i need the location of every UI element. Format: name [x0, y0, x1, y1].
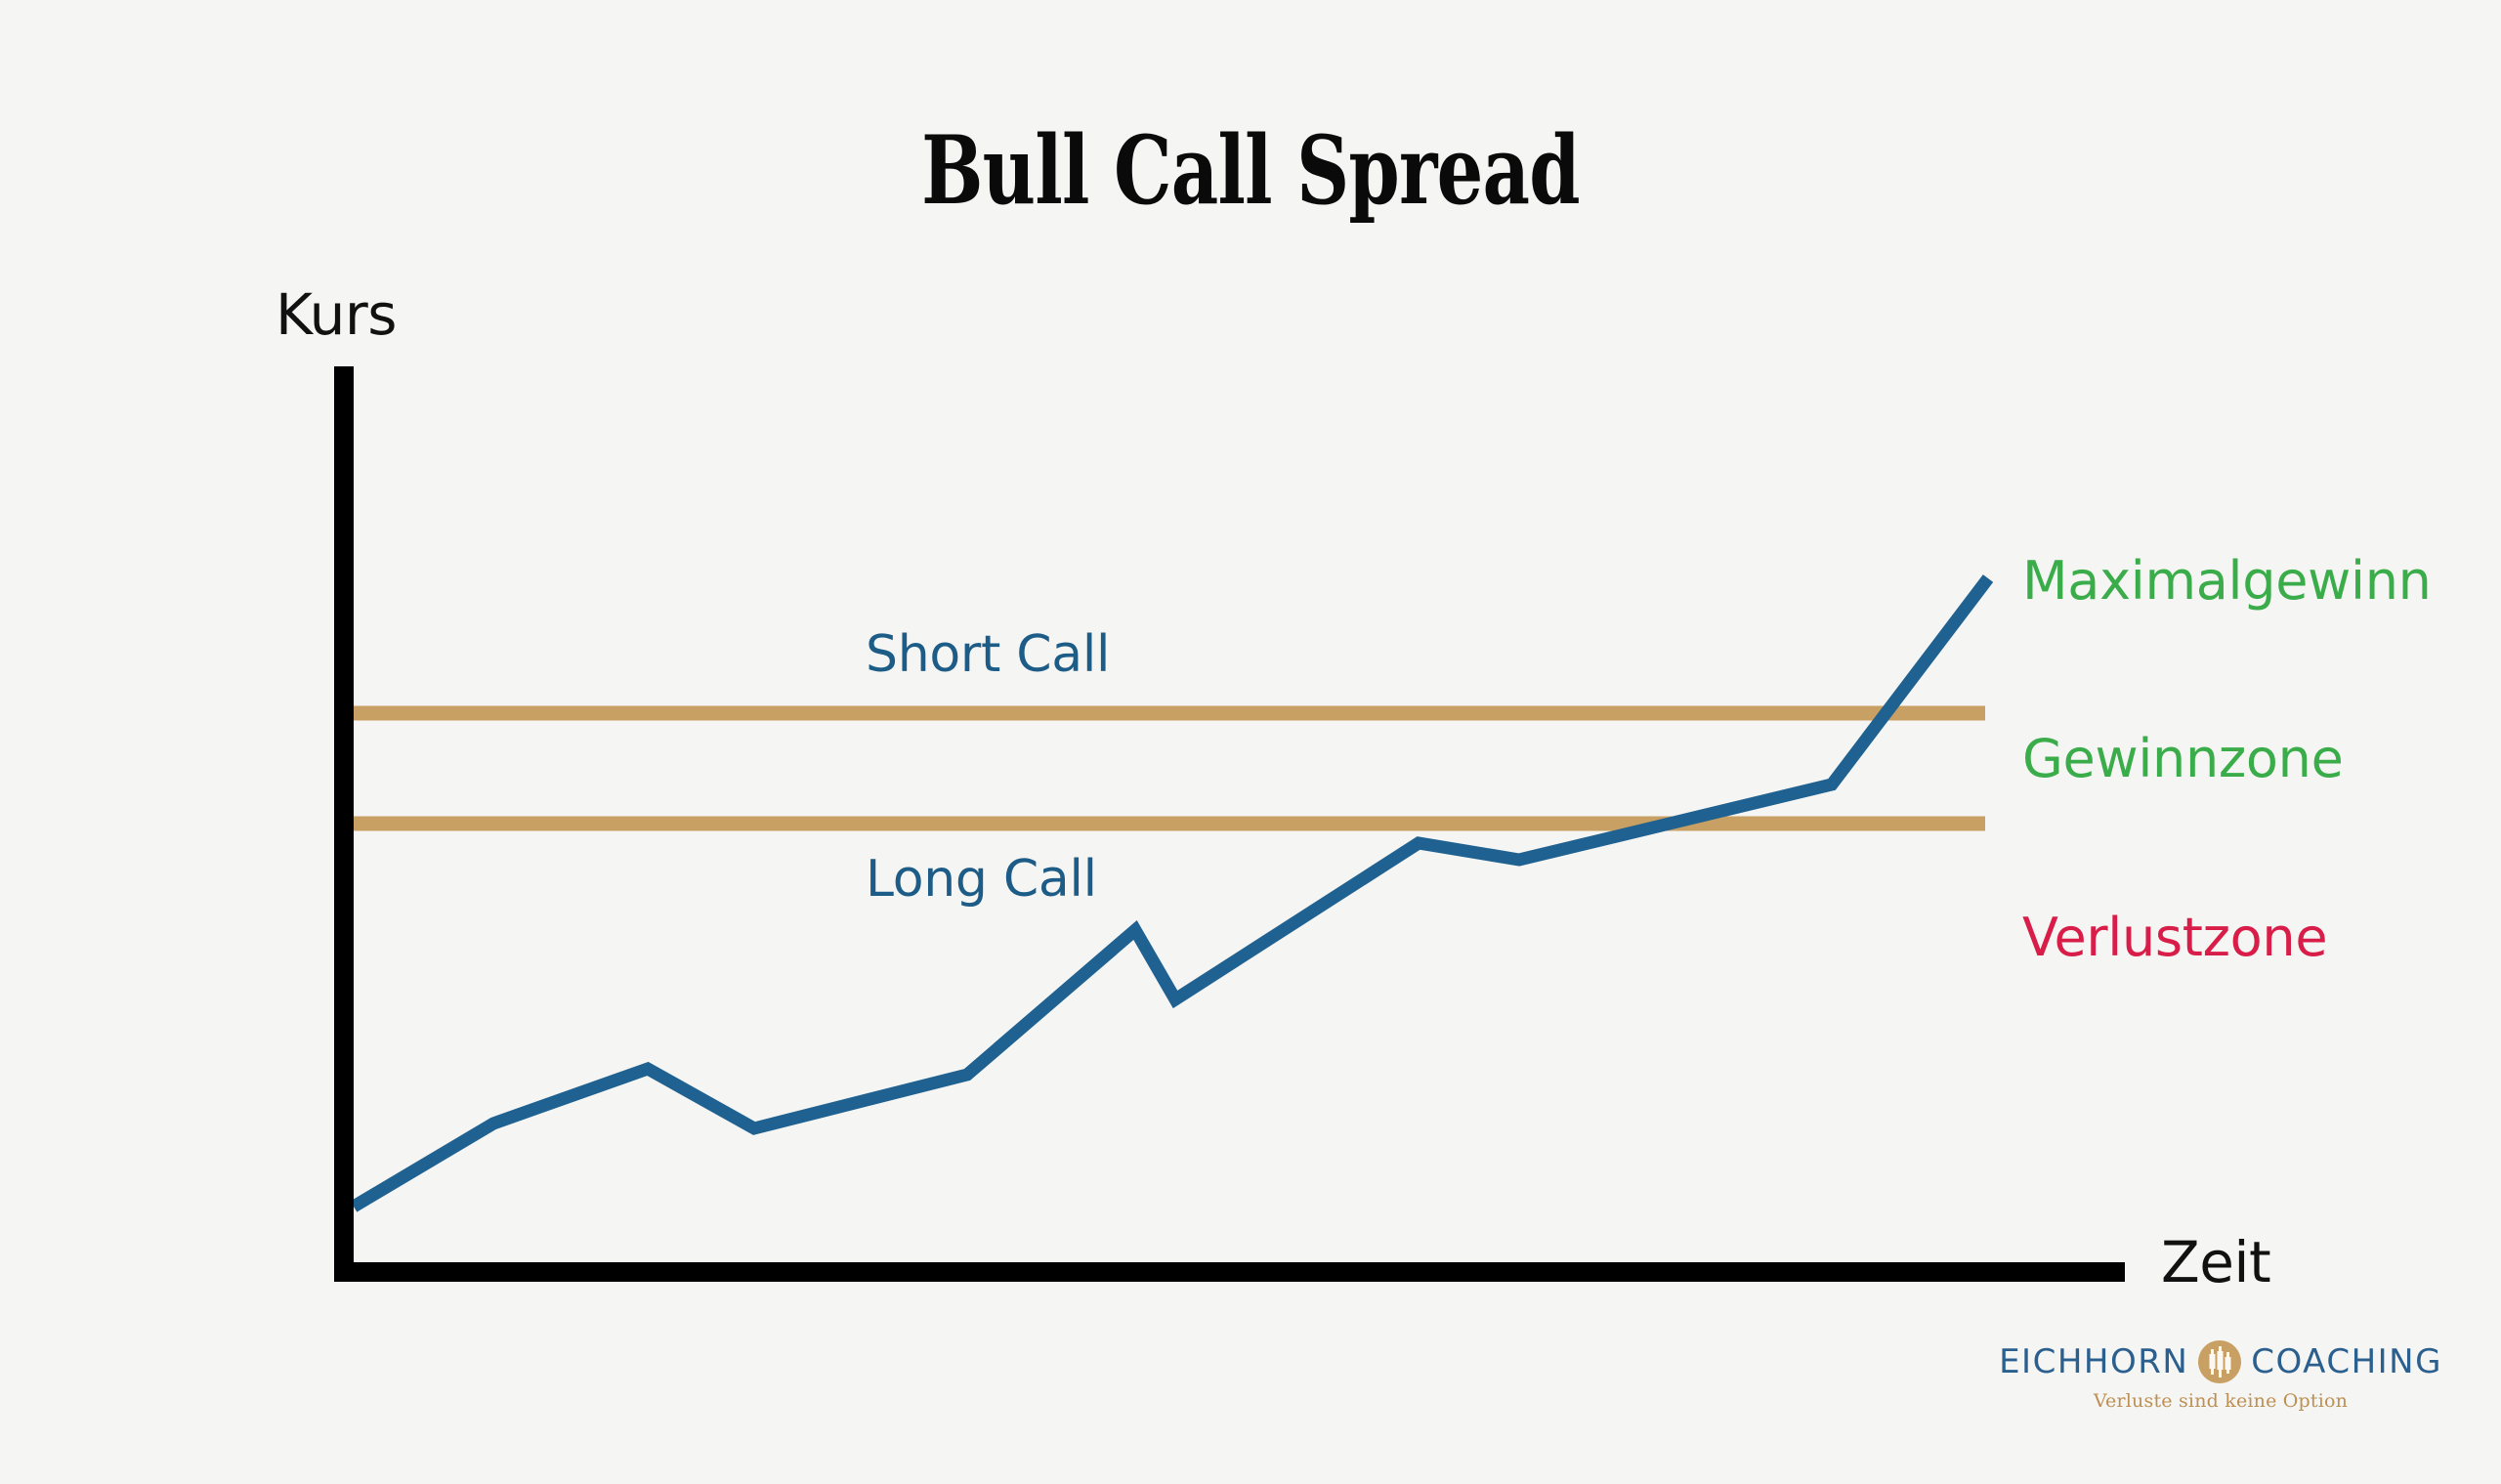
brand-word-left: EICHHORN: [1999, 1345, 2188, 1378]
brand-logo: EICHHORN COACHING Verluste sind keine Op…: [2001, 1340, 2440, 1412]
brand-word-right: COACHING: [2251, 1345, 2442, 1378]
candlestick-emblem-icon: [2198, 1340, 2241, 1383]
zone-label-gewinnzone: Gewinnzone: [2022, 728, 2344, 789]
zone-label-verlustzone: Verlustzone: [2022, 907, 2327, 968]
chart-canvas: Bull Call Spread Kurs Zeit Short Call Lo…: [0, 0, 2501, 1484]
y-axis-label: Kurs: [276, 281, 397, 348]
strike-label-long-call: Long Call: [866, 850, 1097, 909]
strike-label-short-call: Short Call: [866, 625, 1110, 684]
y-axis: [334, 366, 354, 1282]
brand-tagline: Verluste sind keine Option: [2001, 1390, 2440, 1412]
brand-wordmark: EICHHORN COACHING: [2001, 1340, 2440, 1383]
x-axis-label: Zeit: [2161, 1229, 2270, 1295]
x-axis: [334, 1262, 2125, 1282]
zone-label-maximalgewinn: Maximalgewinn: [2022, 550, 2432, 612]
price-line-series: [354, 578, 1988, 1207]
